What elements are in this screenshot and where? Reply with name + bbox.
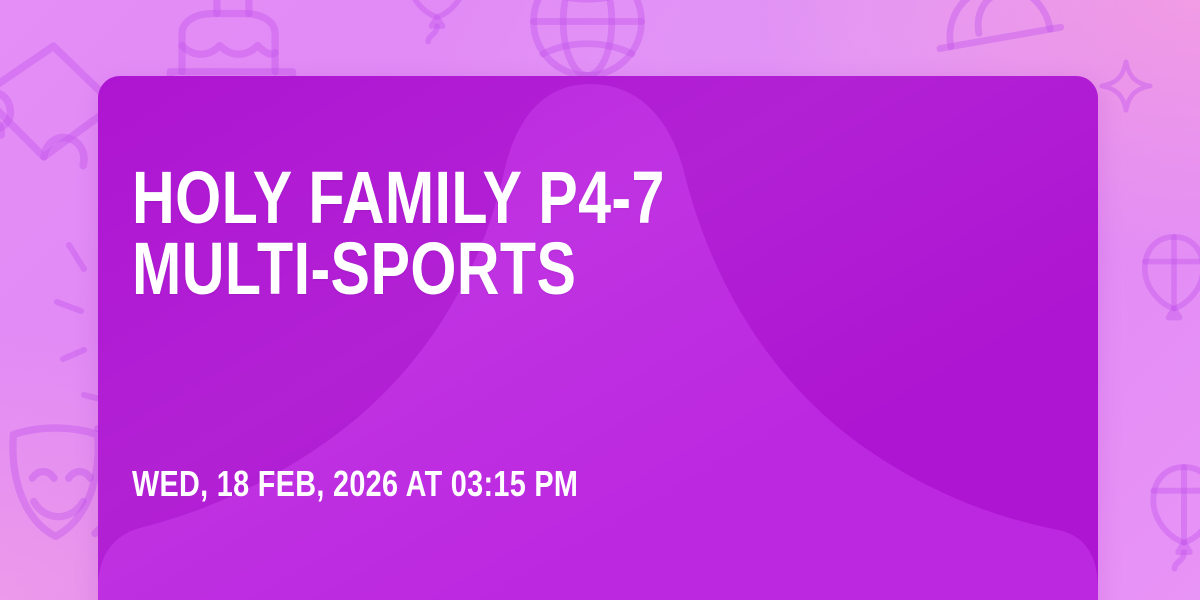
event-datetime: Wed, 18 Feb, 2026 at 03:15 PM [132, 466, 578, 502]
event-poster: Holy Family P4-7 Multi-Sports Wed, 18 Fe… [0, 0, 1200, 600]
card-content: Holy Family P4-7 Multi-Sports Wed, 18 Fe… [132, 76, 1064, 600]
event-title: Holy Family P4-7 Multi-Sports [132, 162, 716, 304]
event-card: Holy Family P4-7 Multi-Sports Wed, 18 Fe… [98, 76, 1098, 600]
